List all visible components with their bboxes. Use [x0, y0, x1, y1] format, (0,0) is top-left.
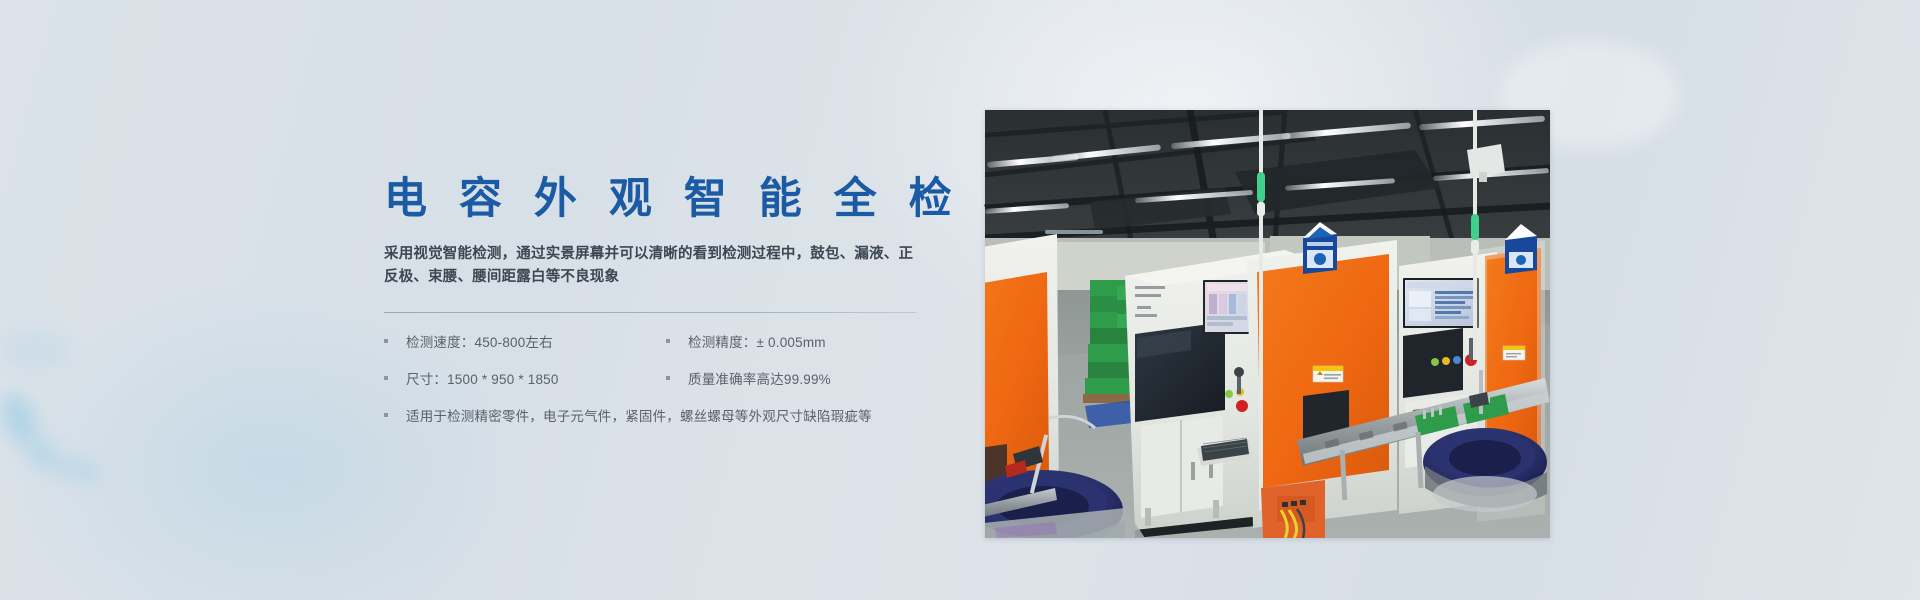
- spec-item-label: 检测速度：450-800左右: [406, 334, 553, 353]
- spec-item-label: 适用于检测精密零件，电子元气件，紧固件，螺丝螺母等外观尺寸缺陷瑕疵等: [406, 408, 872, 427]
- decorative-blob: [45, 454, 104, 483]
- hero-description: 采用视觉智能检测，通过实景屏幕并可以清晰的看到检测过程中，鼓包、漏液、正反极、束…: [384, 243, 924, 290]
- decorative-blob: [0, 389, 42, 450]
- spec-item-accuracy: 检测精度：± 0.005mm: [664, 334, 914, 353]
- spec-item-label: 尺寸：1500 * 950 * 1850: [406, 371, 559, 390]
- bullet-icon: [384, 339, 388, 343]
- spec-item-label: 质量准确率高达99.99%: [688, 371, 831, 390]
- spec-row: 适用于检测精密零件，电子元气件，紧固件，螺丝螺母等外观尺寸缺陷瑕疵等: [384, 408, 924, 427]
- bullet-icon: [384, 376, 388, 380]
- bullet-icon: [666, 376, 670, 380]
- spec-item-applications: 适用于检测精密零件，电子元气件，紧固件，螺丝螺母等外观尺寸缺陷瑕疵等: [384, 408, 924, 427]
- factory-line-illustration: [985, 110, 1550, 538]
- spec-list: 检测速度：450-800左右 检测精度：± 0.005mm 尺寸：1500 * …: [384, 334, 924, 427]
- spec-item-label: 检测精度：± 0.005mm: [688, 334, 826, 353]
- decorative-blob: [28, 438, 54, 468]
- hero-banner: 电 容 外 观 智 能 全 检 机 采用视觉智能检测，通过实景屏幕并可以清晰的看…: [0, 0, 1920, 600]
- bullet-icon: [384, 413, 388, 417]
- spec-item-speed: 检测速度：450-800左右: [384, 334, 664, 353]
- spec-row: 检测速度：450-800左右 检测精度：± 0.005mm: [384, 334, 924, 353]
- spec-item-quality-rate: 质量准确率高达99.99%: [664, 371, 914, 390]
- decorative-blob: [0, 330, 70, 370]
- bullet-icon: [666, 339, 670, 343]
- page-title: 电 容 外 观 智 能 全 检 机: [384, 175, 934, 225]
- spec-item-dimensions: 尺寸：1500 * 950 * 1850: [384, 371, 664, 390]
- product-photo: [985, 110, 1550, 538]
- spec-row: 尺寸：1500 * 950 * 1850 质量准确率高达99.99%: [384, 371, 924, 390]
- hero-copy: 电 容 外 观 智 能 全 检 机 采用视觉智能检测，通过实景屏幕并可以清晰的看…: [384, 175, 934, 427]
- divider: [384, 312, 917, 313]
